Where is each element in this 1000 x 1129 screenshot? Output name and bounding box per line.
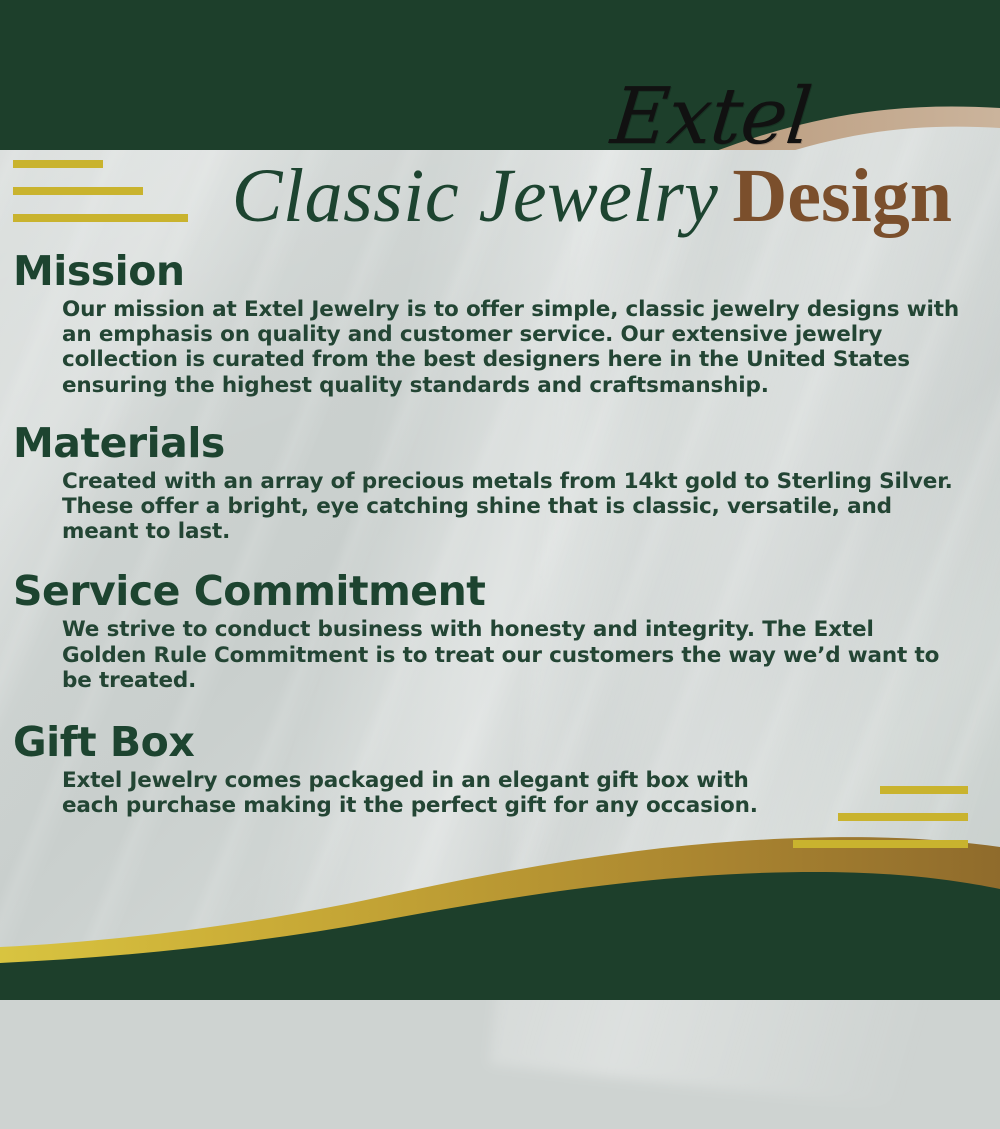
section-body-mission: Our mission at Extel Jewelry is to offer… [62,297,974,398]
section-heading-service-commitment: Service Commitment [13,568,1000,615]
section-heading-gift-box: Gift Box [13,719,1000,766]
page-title-main: Classic Jewelry [232,154,719,238]
section-body-service-commitment: We strive to conduct business with hones… [62,617,950,692]
section-mission: Mission Our mission at Extel Jewelry is … [0,248,1000,398]
section-service-commitment: Service Commitment We strive to conduct … [0,568,1000,693]
page-title-accent: Design [732,154,952,238]
section-materials: Materials Created with an array of preci… [0,420,1000,545]
section-gift-box: Gift Box Extel Jewelry comes packaged in… [0,719,1000,818]
brand-logo-script: Extel [608,78,866,156]
gold-line-long [793,840,968,848]
page-title: Classic JewelryDesign [0,158,952,234]
section-heading-materials: Materials [13,420,1000,467]
section-body-gift-box: Extel Jewelry comes packaged in an elega… [62,768,770,818]
section-heading-mission: Mission [13,248,1000,295]
section-body-materials: Created with an array of precious metals… [62,469,964,544]
content-sections: Mission Our mission at Extel Jewelry is … [0,248,1000,824]
